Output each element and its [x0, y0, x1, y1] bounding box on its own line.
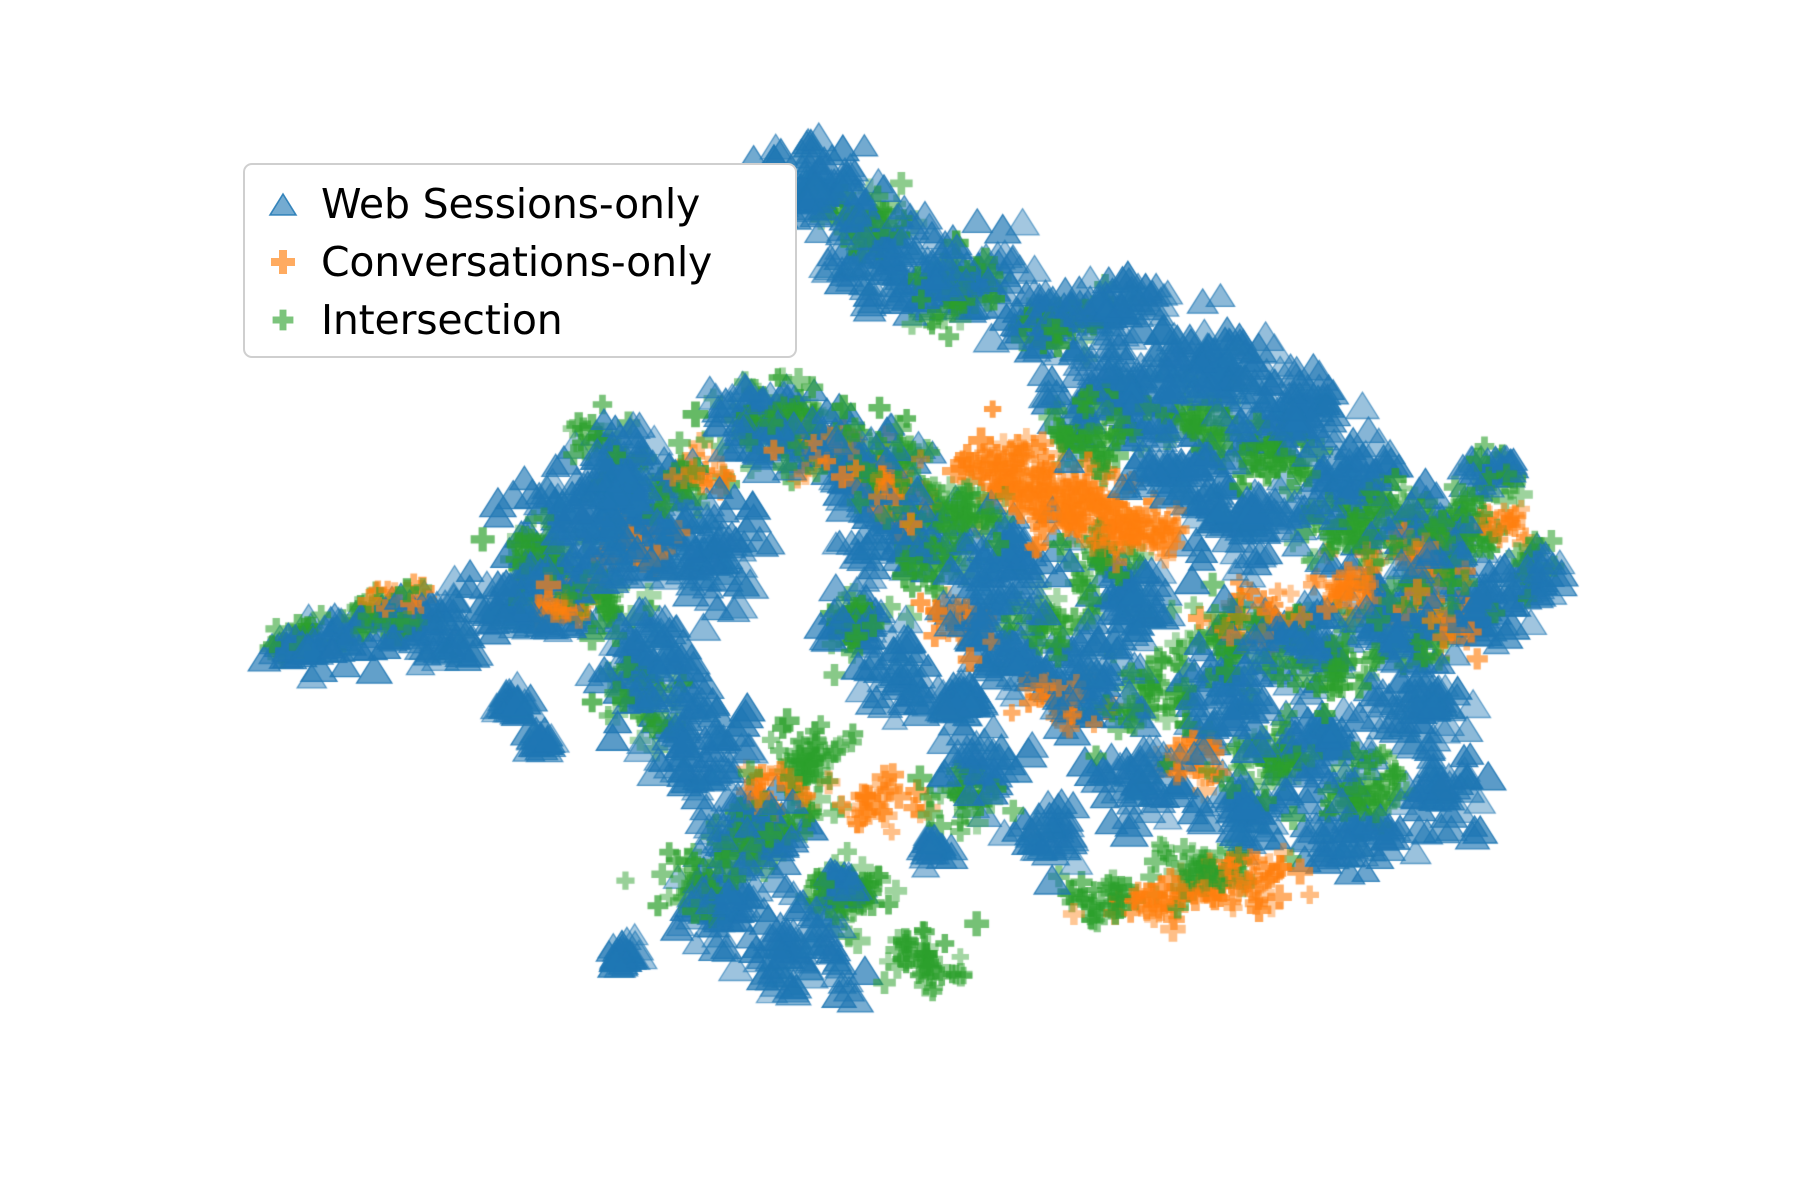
legend-entry-intersection[interactable]: Intersection	[245, 289, 795, 351]
legend-label-conversations-only: Conversations-only	[321, 242, 712, 283]
figure-canvas: Web Sessions-only Conversations-only Int…	[0, 0, 1800, 1200]
legend-entry-web-sessions-only[interactable]: Web Sessions-only	[245, 173, 795, 235]
legend-entry-conversations-only[interactable]: Conversations-only	[245, 231, 795, 293]
plus-filled-icon	[245, 307, 321, 333]
plus-filled-icon	[245, 247, 321, 277]
legend-label-intersection: Intersection	[321, 300, 563, 341]
legend-label-web-sessions-only: Web Sessions-only	[321, 184, 700, 225]
triangle-up-icon	[245, 189, 321, 219]
legend-box[interactable]: Web Sessions-only Conversations-only Int…	[243, 163, 797, 358]
